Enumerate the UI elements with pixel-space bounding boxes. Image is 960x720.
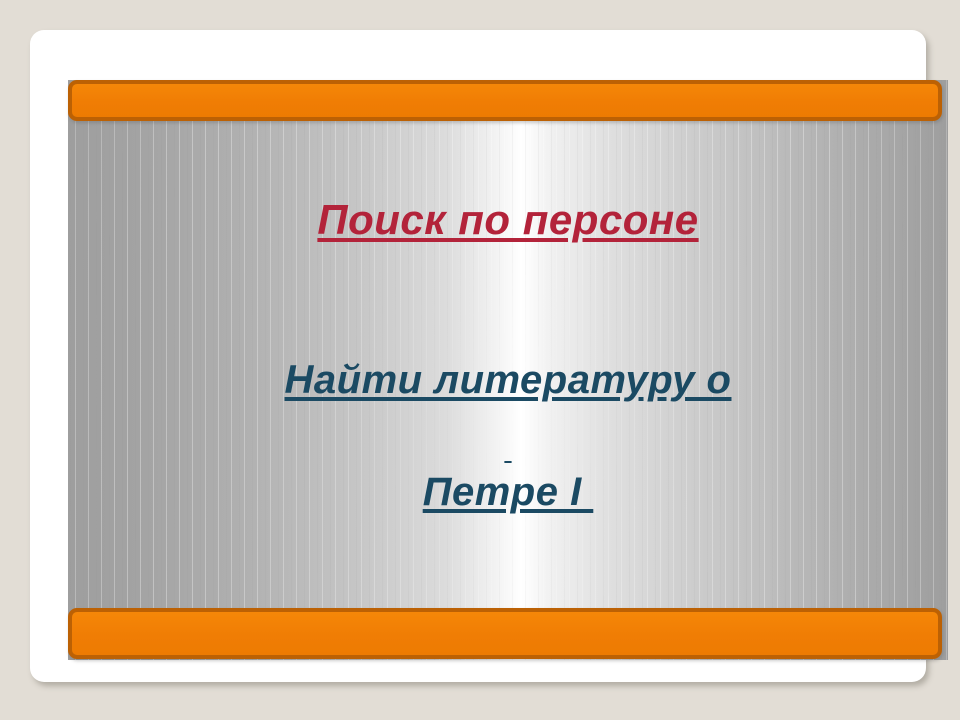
slide-frame: Поиск по персоне Найти литературу о Петр… (30, 30, 926, 682)
slide-person-name: Петре I (68, 470, 948, 515)
slide-stage: Поиск по персоне Найти литературу о Петр… (0, 0, 960, 720)
slide-subtitle: Найти литературу о (68, 358, 948, 403)
slide-spacer-underline (68, 435, 948, 466)
slide-title: Поиск по персоне (68, 196, 948, 244)
slide-text-block: Поиск по персоне Найти литературу о Петр… (68, 80, 948, 660)
